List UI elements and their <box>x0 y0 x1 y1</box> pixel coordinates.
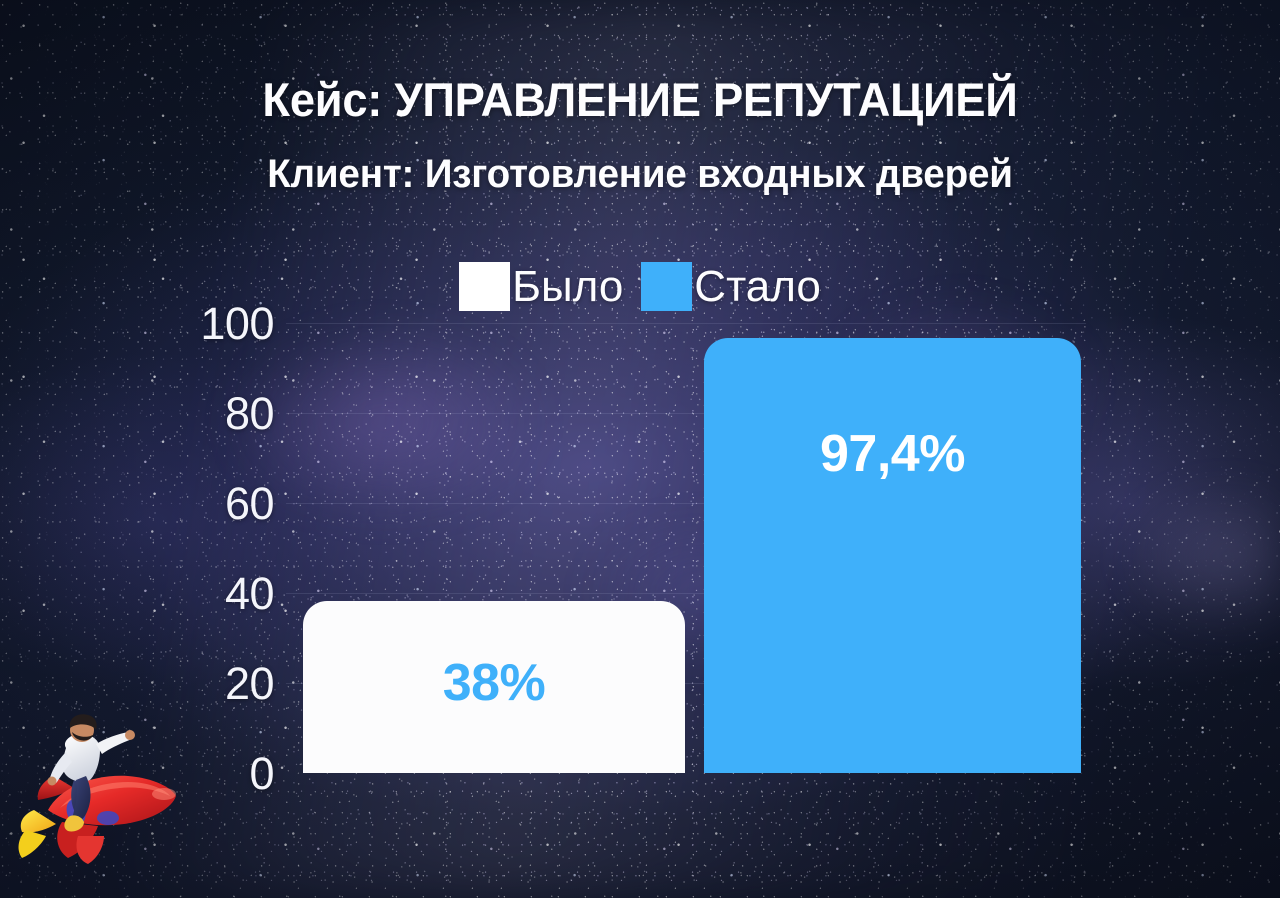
y-axis-tick-40: 40 <box>154 571 274 616</box>
y-axis-tick-100: 100 <box>154 301 274 346</box>
bar-value-label: 97,4% <box>820 428 965 480</box>
gridline-100 <box>286 323 1086 324</box>
bar-value-label: 38% <box>443 657 546 709</box>
rocket-nozzle <box>19 810 56 858</box>
rider-hand-front <box>125 730 135 740</box>
man-riding-rocket-illustration <box>8 718 198 890</box>
rider-hand-back <box>48 777 57 786</box>
y-axis-tick-20: 20 <box>154 661 274 706</box>
rocket-stripe <box>97 811 119 825</box>
slide-canvas: Кейс: УПРАВЛЕНИЕ РЕПУТАЦИЕЙ Клиент: Изго… <box>0 0 1280 898</box>
rocket-nose-highlight <box>152 788 176 800</box>
y-axis-tick-60: 60 <box>154 481 274 526</box>
bar-now[interactable]: 97,4% <box>704 338 1081 773</box>
y-axis-tick-80: 80 <box>154 391 274 436</box>
bar-was[interactable]: 38% <box>303 601 685 773</box>
